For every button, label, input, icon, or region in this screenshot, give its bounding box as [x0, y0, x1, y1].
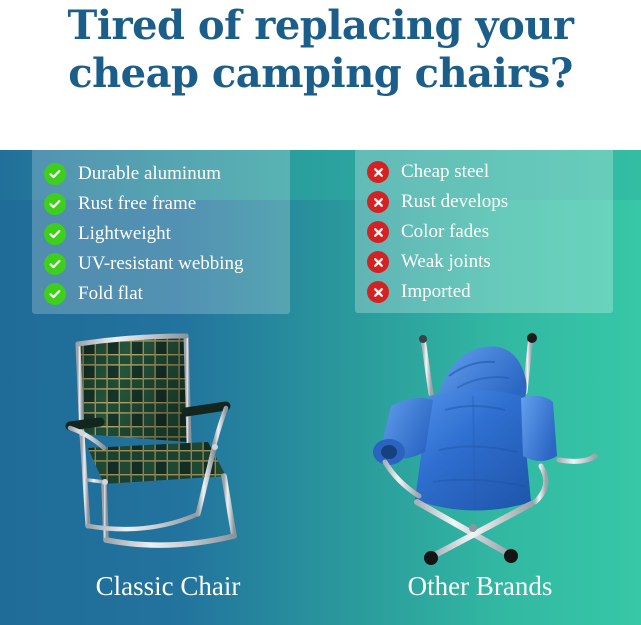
list-item-label: Weak joints — [401, 251, 491, 273]
list-item: Cheap steel — [367, 158, 599, 186]
list-item-label: Fold flat — [78, 283, 143, 305]
list-item-label: Durable aluminum — [78, 163, 221, 185]
list-item: Imported — [367, 278, 599, 306]
list-item-label: UV-resistant webbing — [78, 253, 244, 275]
cons-panel: Cheap steel Rust develops Color fades We… — [355, 146, 613, 313]
cross-circle-icon — [367, 191, 389, 213]
headline-line-2: cheap camping chairs? — [0, 50, 641, 98]
list-item-label: Rust develops — [401, 191, 508, 213]
list-item: Durable aluminum — [44, 160, 276, 188]
check-circle-icon — [44, 163, 66, 185]
comparison-infographic: Tired of replacing your cheap camping ch… — [0, 0, 641, 625]
list-item-label: Cheap steel — [401, 161, 489, 183]
list-item: Color fades — [367, 218, 599, 246]
page-headline: Tired of replacing your cheap camping ch… — [0, 2, 641, 98]
pros-panel: Durable aluminum Rust free frame Lightwe… — [32, 148, 290, 314]
list-item: Rust develops — [367, 188, 599, 216]
list-item: Rust free frame — [44, 190, 276, 218]
cons-feature-list: Cheap steel Rust develops Color fades We… — [367, 158, 599, 306]
headline-line-1: Tired of replacing your — [0, 2, 641, 50]
list-item-label: Imported — [401, 281, 471, 303]
check-circle-icon — [44, 283, 66, 305]
caption-other-brands: Other Brands — [340, 570, 620, 602]
cross-circle-icon — [367, 221, 389, 243]
check-circle-icon — [44, 223, 66, 245]
list-item-label: Rust free frame — [78, 193, 196, 215]
check-circle-icon — [44, 253, 66, 275]
list-item: Fold flat — [44, 280, 276, 308]
list-item: Weak joints — [367, 248, 599, 276]
list-item-label: Lightweight — [78, 223, 171, 245]
list-item-label: Color fades — [401, 221, 489, 243]
check-circle-icon — [44, 193, 66, 215]
blue-fabric-folding-camp-chair-photo — [345, 330, 600, 570]
cross-circle-icon — [367, 161, 389, 183]
pros-feature-list: Durable aluminum Rust free frame Lightwe… — [44, 160, 276, 308]
list-item: UV-resistant webbing — [44, 250, 276, 278]
cross-circle-icon — [367, 281, 389, 303]
classic-webbed-lawn-chair-photo — [48, 330, 288, 570]
cross-circle-icon — [367, 251, 389, 273]
caption-classic-chair: Classic Chair — [28, 570, 308, 602]
list-item: Lightweight — [44, 220, 276, 248]
